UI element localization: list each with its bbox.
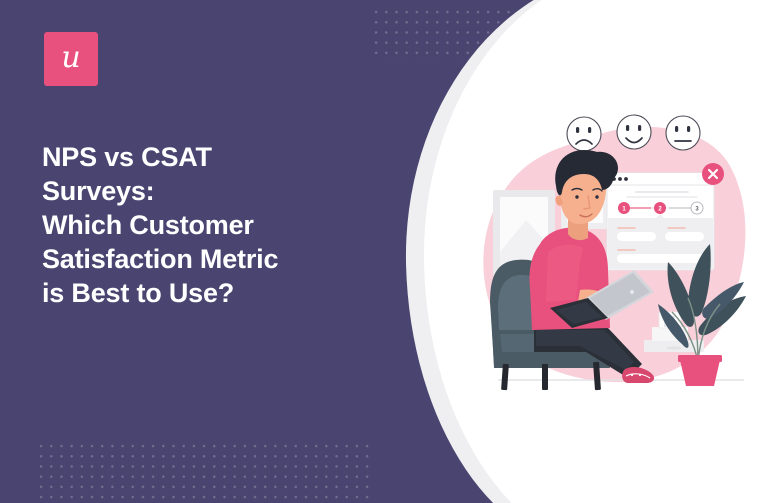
sad-face-icon (567, 117, 601, 151)
form-input-1[interactable] (617, 232, 656, 241)
form-input-3[interactable] (617, 254, 704, 263)
stepper-step-1[interactable]: 1 (618, 202, 630, 214)
banner-canvas: u NPS vs CSAT Surveys: Which Customer Sa… (0, 0, 768, 503)
logo-letter: u (44, 32, 98, 86)
dot-grid-bottom (36, 441, 376, 503)
page-title: NPS vs CSAT Surveys: Which Customer Sati… (42, 140, 372, 310)
window-traffic-dots (612, 177, 628, 181)
plant-pot (680, 360, 720, 386)
happy-face-icon (617, 115, 651, 149)
form-input-2[interactable] (665, 232, 704, 241)
hero-illustration: 1 2 3 (476, 112, 762, 404)
close-icon[interactable] (702, 163, 724, 185)
neutral-face-icon (666, 116, 700, 150)
userpilot-logo[interactable]: u (44, 32, 98, 86)
stepper-step-3[interactable]: 3 (691, 202, 703, 214)
